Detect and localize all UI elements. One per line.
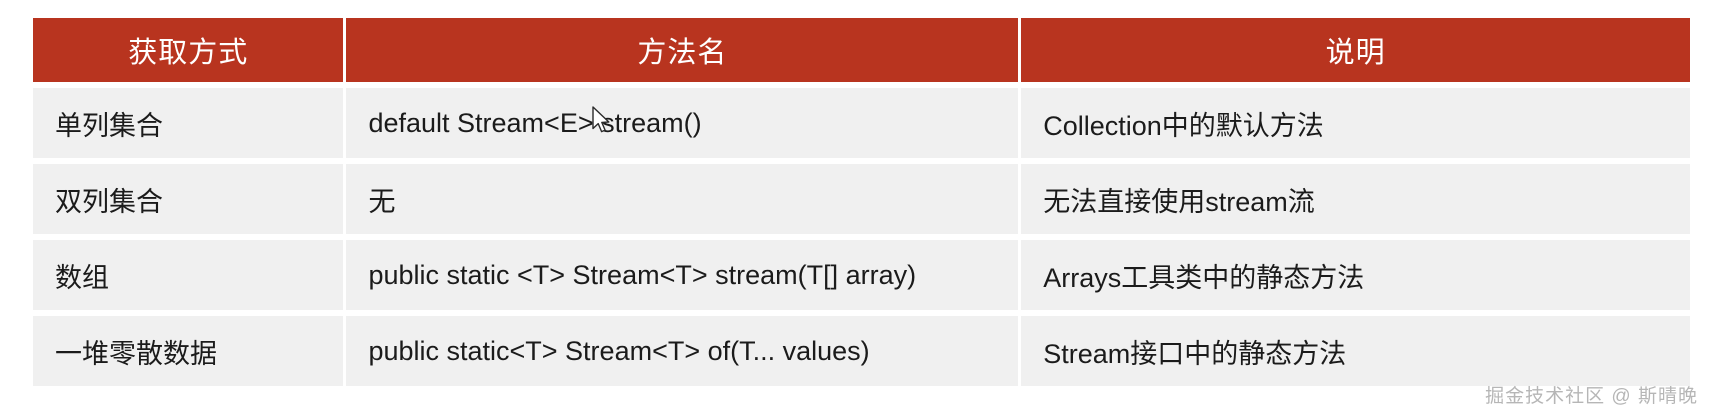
- cell-way: 一堆零散数据: [33, 316, 343, 386]
- table-row: 数组 public static <T> Stream<T> stream(T[…: [33, 240, 1690, 310]
- stream-acquisition-table: 获取方式 方法名 说明 单列集合 default Stream<E> strea…: [33, 18, 1690, 388]
- cell-method: default Stream<E> stream(): [346, 88, 1018, 158]
- cell-description: Stream接口中的静态方法: [1021, 316, 1690, 386]
- cell-description: 无法直接使用stream流: [1021, 164, 1690, 234]
- cell-method: public static <T> Stream<T> stream(T[] a…: [346, 240, 1018, 310]
- cell-description: Arrays工具类中的静态方法: [1021, 240, 1690, 310]
- cell-way: 数组: [33, 240, 343, 310]
- cell-description: Collection中的默认方法: [1021, 88, 1690, 158]
- cell-method: public static<T> Stream<T> of(T... value…: [346, 316, 1018, 386]
- cell-method: 无: [346, 164, 1018, 234]
- table-row: 单列集合 default Stream<E> stream() Collecti…: [33, 88, 1690, 158]
- table-row: 双列集合 无 无法直接使用stream流: [33, 164, 1690, 234]
- column-header-description: 说明: [1021, 18, 1690, 82]
- watermark: 掘金技术社区 @ 斯晴晚: [1485, 381, 1698, 408]
- table-row: 一堆零散数据 public static<T> Stream<T> of(T..…: [33, 316, 1690, 386]
- cell-way: 单列集合: [33, 88, 343, 158]
- cell-way: 双列集合: [33, 164, 343, 234]
- column-header-way: 获取方式: [33, 18, 343, 82]
- column-header-method: 方法名: [346, 18, 1018, 82]
- table-header-row: 获取方式 方法名 说明: [33, 18, 1690, 82]
- table: 获取方式 方法名 说明 单列集合 default Stream<E> strea…: [33, 18, 1690, 386]
